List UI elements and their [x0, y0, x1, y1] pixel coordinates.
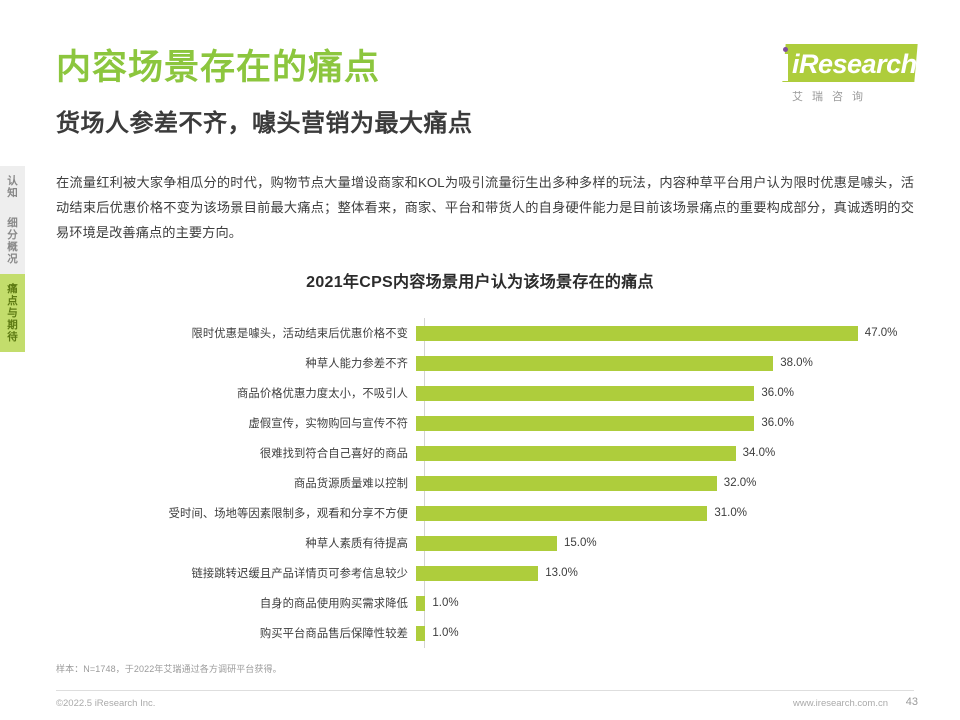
- bar-track: 15.0%: [416, 528, 914, 558]
- bar-category-label: 种草人能力参差不齐: [56, 355, 416, 371]
- page-title: 内容场景存在的痛点: [56, 46, 380, 90]
- logo-i-dot-icon: [783, 47, 788, 52]
- bar-fill: [416, 506, 707, 521]
- footer-copyright: ©2022.5 iResearch Inc.: [56, 698, 155, 709]
- bar-value-label: 34.0%: [743, 447, 776, 459]
- bar-track: 38.0%: [416, 348, 914, 378]
- bar-fill: [416, 626, 425, 641]
- bar-row: 限时优惠是噱头，活动结束后优惠价格不变47.0%: [56, 318, 914, 348]
- bar-category-label: 商品价格优惠力度太小，不吸引人: [56, 385, 416, 401]
- bar-row: 种草人能力参差不齐38.0%: [56, 348, 914, 378]
- chart-title: 2021年CPS内容场景用户认为该场景存在的痛点: [0, 268, 960, 292]
- logo-chinese-name: 艾瑞咨询: [792, 88, 872, 104]
- logo-i-stem: [782, 54, 788, 81]
- bar-value-label: 36.0%: [761, 417, 794, 429]
- bar-track: 13.0%: [416, 558, 914, 588]
- page-subtitle: 货场人参差不齐，噱头营销为最大痛点: [56, 108, 473, 140]
- sidebar-item-label: 痛点与期待: [6, 283, 18, 343]
- bar-fill: [416, 386, 754, 401]
- bar-category-label: 商品货源质量难以控制: [56, 475, 416, 491]
- bar-value-label: 47.0%: [865, 327, 898, 339]
- bar-fill: [416, 566, 538, 581]
- bar-row: 购买平台商品售后保障性较差1.0%: [56, 618, 914, 648]
- chart-footnote: 样本：N=1748，于2022年艾瑞通过各方调研平台获得。: [56, 662, 282, 675]
- bar-value-label: 32.0%: [724, 477, 757, 489]
- bar-category-label: 自身的商品使用购买需求降低: [56, 595, 416, 611]
- bar-category-label: 购买平台商品售后保障性较差: [56, 625, 416, 641]
- bar-row: 商品价格优惠力度太小，不吸引人36.0%: [56, 378, 914, 408]
- bar-track: 36.0%: [416, 378, 914, 408]
- sidebar-item-0[interactable]: 认知: [0, 166, 26, 208]
- slide-page: 认知细分概况痛点与期待 内容场景存在的痛点 货场人参差不齐，噱头营销为最大痛点 …: [0, 0, 960, 720]
- bar-row: 虚假宣传，实物购回与宣传不符36.0%: [56, 408, 914, 438]
- sidebar-item-label: 细分概况: [6, 217, 18, 265]
- bar-row: 商品货源质量难以控制32.0%: [56, 468, 914, 498]
- bar-fill: [416, 326, 858, 341]
- bar-value-label: 36.0%: [761, 387, 794, 399]
- footer-divider: [56, 690, 914, 691]
- bar-category-label: 很难找到符合自己喜好的商品: [56, 445, 416, 461]
- bar-row: 链接跳转迟缓且产品详情页可参考信息较少13.0%: [56, 558, 914, 588]
- logo-wordmark: iResearch: [792, 48, 917, 80]
- section-sidebar: 认知细分概况痛点与期待: [0, 166, 26, 352]
- bar-track: 32.0%: [416, 468, 914, 498]
- bar-fill: [416, 446, 736, 461]
- bar-category-label: 限时优惠是噱头，活动结束后优惠价格不变: [56, 325, 416, 341]
- bar-value-label: 15.0%: [564, 537, 597, 549]
- bar-fill: [416, 476, 717, 491]
- bar-category-label: 受时间、场地等因素限制多，观看和分享不方便: [56, 505, 416, 521]
- bar-track: 31.0%: [416, 498, 914, 528]
- bar-row: 受时间、场地等因素限制多，观看和分享不方便31.0%: [56, 498, 914, 528]
- bar-category-label: 种草人素质有待提高: [56, 535, 416, 551]
- bar-track: 36.0%: [416, 408, 914, 438]
- bar-track: 1.0%: [416, 618, 914, 648]
- bar-row: 种草人素质有待提高15.0%: [56, 528, 914, 558]
- iresearch-logo: iResearch 艾瑞咨询: [766, 44, 916, 106]
- bar-fill: [416, 596, 425, 611]
- footer-page-number: 43: [906, 696, 918, 708]
- bar-fill: [416, 536, 557, 551]
- bar-chart: 限时优惠是噱头，活动结束后优惠价格不变47.0%种草人能力参差不齐38.0%商品…: [56, 318, 914, 648]
- sidebar-item-1[interactable]: 细分概况: [0, 208, 26, 274]
- bar-value-label: 13.0%: [545, 567, 578, 579]
- bar-track: 34.0%: [416, 438, 914, 468]
- bar-value-label: 1.0%: [432, 597, 458, 609]
- bar-row: 很难找到符合自己喜好的商品34.0%: [56, 438, 914, 468]
- bar-category-label: 虚假宣传，实物购回与宣传不符: [56, 415, 416, 431]
- bar-row: 自身的商品使用购买需求降低1.0%: [56, 588, 914, 618]
- bar-track: 47.0%: [416, 318, 914, 348]
- bar-fill: [416, 416, 754, 431]
- intro-paragraph: 在流量红利被大家争相瓜分的时代，购物节点大量增设商家和KOL为吸引流量衍生出多种…: [56, 170, 914, 245]
- bar-value-label: 31.0%: [714, 507, 747, 519]
- bar-track: 1.0%: [416, 588, 914, 618]
- footer-url: www.iresearch.com.cn: [793, 698, 888, 709]
- bar-fill: [416, 356, 773, 371]
- bar-value-label: 38.0%: [780, 357, 813, 369]
- bar-category-label: 链接跳转迟缓且产品详情页可参考信息较少: [56, 565, 416, 581]
- bar-value-label: 1.0%: [432, 627, 458, 639]
- logo-badge: iResearch: [766, 44, 916, 84]
- sidebar-item-label: 认知: [6, 175, 18, 199]
